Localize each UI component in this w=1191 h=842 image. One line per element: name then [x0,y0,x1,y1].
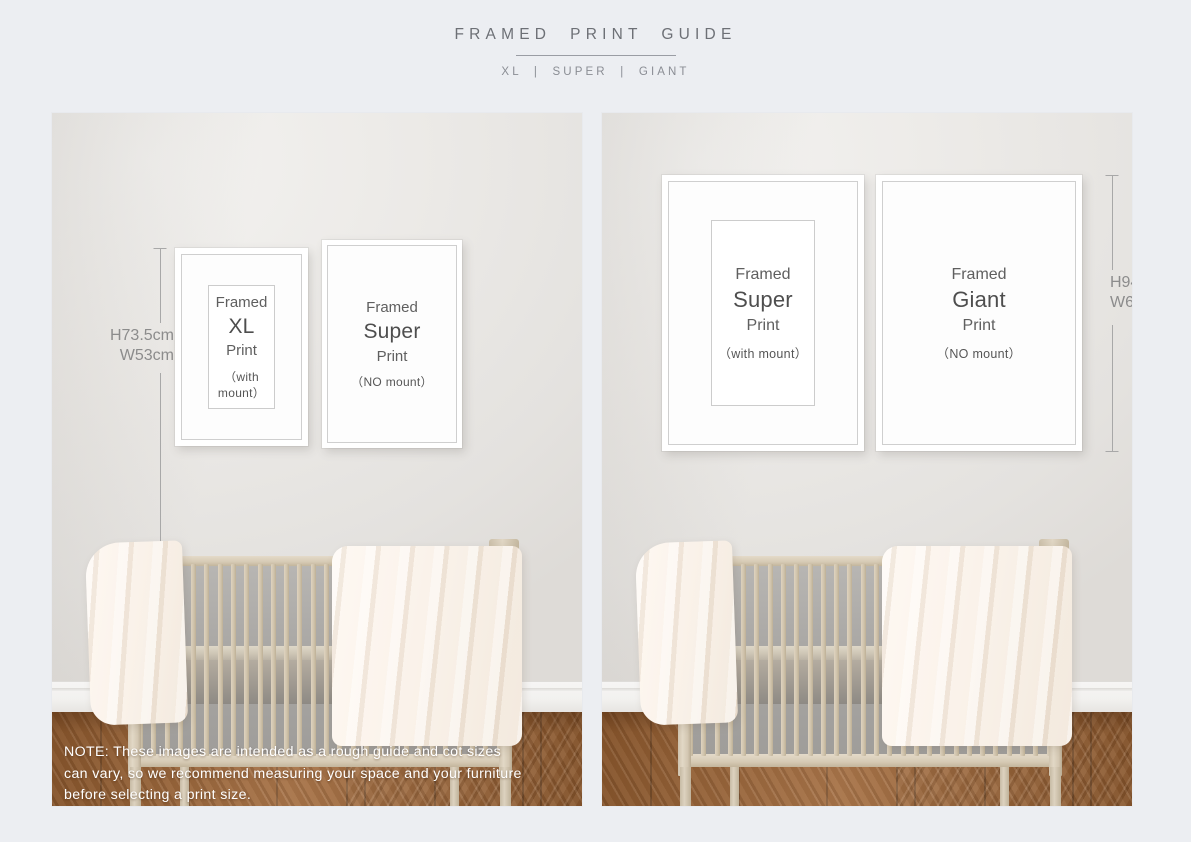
frame-super-no-mount-inner: Framed Super Print （NO mount） [327,245,457,443]
crib-slat [231,564,236,756]
crib-leg-left [680,767,691,806]
crib-slat [794,564,799,756]
frame-giant-label: Framed Giant Print （NO mount） [937,264,1022,363]
frame-super-with-mount-line4: （with mount） [718,346,807,363]
dimension-height-label: H94cm [1110,273,1132,293]
crib-leg-mid-left [730,767,739,806]
frame-xl-mount: Framed XL Print （with mount） [208,285,275,409]
frame-super-no-mount-line3: Print [351,347,433,367]
frame-super-with-mount[interactable]: Framed Super Print （with mount） [662,175,864,451]
frame-giant-line1: Framed [937,264,1022,286]
frame-xl[interactable]: Framed XL Print （with mount） [175,248,308,446]
frame-super-with-mount-mount: Framed Super Print （with mount） [711,220,815,406]
crib-slat [311,564,316,756]
frame-super-with-mount-line2: Super [718,285,807,315]
blanket-right [882,546,1072,746]
frame-giant-line3: Print [937,315,1022,337]
frame-xl-line3: Print [209,341,274,361]
frame-xl-inner: Framed XL Print （with mount） [181,254,302,440]
blanket-left [85,540,188,725]
crib-slat [204,564,209,756]
blanket-right [332,546,522,746]
crib-slat [847,564,852,756]
left-panel: H73.5cm W53cm Framed XL Print （with moun… [52,113,582,806]
crib-slat [768,564,773,756]
crib-slat [191,564,196,756]
crib-slat [244,564,249,756]
frame-giant-line2: Giant [937,285,1022,315]
crib-leg-mid-right [1000,767,1009,806]
frame-super-no-mount-line4: （NO mount） [351,374,433,390]
crib-slat [781,564,786,756]
crib-slat [284,564,289,756]
page-title: FRAMED PRINT GUIDE [0,26,1191,44]
crib-slat [821,564,826,756]
frame-xl-line1: Framed [209,293,274,313]
frame-xl-line4: （with mount） [209,369,274,401]
crib-slat [834,564,839,756]
crib-right [602,536,1132,806]
note-text: NOTE: These images are intended as a rou… [64,742,524,806]
right-panel: H94cm W64cm Framed Super Print （with mou… [602,113,1132,806]
page-header: FRAMED PRINT GUIDE XL | SUPER | GIANT [0,26,1191,78]
dimension-height-label: H73.5cm [110,326,174,346]
framed-print-guide-page: FRAMED PRINT GUIDE XL | SUPER | GIANT [0,0,1191,842]
dimension-line-right: H94cm W64cm [1092,175,1132,451]
header-divider [516,55,676,56]
frame-super-no-mount-label: Framed Super Print （NO mount） [351,298,433,390]
crib-slat [754,564,759,756]
blanket-left [635,540,738,725]
crib-slat [271,564,276,756]
frame-giant-inner: Framed Giant Print （NO mount） [882,181,1076,445]
frame-xl-label: Framed XL Print （with mount） [209,293,274,401]
frame-super-no-mount-line1: Framed [351,298,433,318]
frame-super-no-mount[interactable]: Framed Super Print （NO mount） [322,240,462,448]
crib-slat [861,564,866,756]
page-subtitle: XL | SUPER | GIANT [0,66,1191,78]
crib-slat [297,564,302,756]
frame-xl-line2: XL [209,313,274,341]
crib-leg-right [1050,767,1061,806]
dimension-width-label: W64cm [1110,293,1132,313]
crib-slat [258,564,263,756]
crib-slat [741,564,746,756]
crib-slat [808,564,813,756]
frame-giant-line4: （NO mount） [937,346,1022,363]
frame-giant[interactable]: Framed Giant Print （NO mount） [876,175,1082,451]
frame-super-with-mount-line1: Framed [718,264,807,286]
crib-slat [218,564,223,756]
crib-slat [324,564,329,756]
frame-super-no-mount-line2: Super [351,318,433,346]
dimension-width-label: W53cm [110,346,174,366]
frame-super-with-mount-line3: Print [718,315,807,337]
frame-super-with-mount-label: Framed Super Print （with mount） [718,264,807,363]
frame-super-with-mount-inner: Framed Super Print （with mount） [668,181,858,445]
crib-slat [874,564,879,756]
